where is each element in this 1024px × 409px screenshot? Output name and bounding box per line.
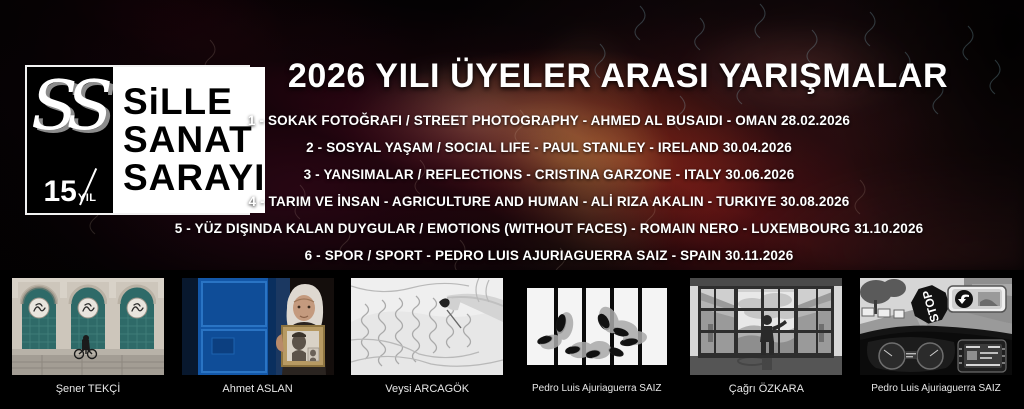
photo-thumbnails: STOP bbox=[0, 278, 1024, 375]
competition-item-5: 5 - YÜZ DIŞINDA KALAN DUYGULAR / EMOTION… bbox=[0, 215, 1024, 242]
competition-item-6: 6 - SPOR / SPORT - PEDRO LUIS AJURIAGUER… bbox=[0, 242, 1024, 269]
photo-caption-2: Ahmet ASLAN bbox=[182, 380, 334, 404]
photo-thumbnail-3[interactable] bbox=[351, 278, 503, 375]
poster-header: SS 15YIL SiLLE SANAT SARAYI 2026 YILI ÜY… bbox=[0, 0, 1024, 270]
competition-item-1: 1 - SOKAK FOTOĞRAFI / STREET PHOTOGRAPHY… bbox=[0, 107, 1024, 134]
competition-list: 1 - SOKAK FOTOĞRAFI / STREET PHOTOGRAPHY… bbox=[0, 107, 1024, 269]
child-glass-facade-bw-image bbox=[690, 278, 842, 375]
mosque-arches-calligraphy-cyclist-image bbox=[12, 278, 164, 375]
competition-item-3: 3 - YANSIMALAR / REFLECTIONS - CRISTINA … bbox=[0, 161, 1024, 188]
photo-caption-4: Pedro Luis Ajuriaguerra SAIZ bbox=[521, 380, 673, 404]
competition-item-4: 4 - TARIM VE İNSAN - AGRICULTURE AND HUM… bbox=[0, 188, 1024, 215]
photo-strip: STOP bbox=[0, 270, 1024, 409]
photo-thumbnail-1[interactable] bbox=[12, 278, 164, 375]
photo-captions: Şener TEKÇİ Ahmet ASLAN Veysi ARCAGÖK Pe… bbox=[0, 380, 1024, 404]
photo-thumbnail-4[interactable] bbox=[521, 278, 673, 375]
competition-item-2: 2 - SOSYAL YAŞAM / SOCIAL LIFE - PAUL ST… bbox=[0, 134, 1024, 161]
photo-caption-5: Çağrı ÖZKARA bbox=[690, 380, 842, 404]
car-dashboard-stop-sign-bw-image: STOP bbox=[860, 278, 1012, 375]
woman-blue-door-holding-portrait-image bbox=[182, 278, 334, 375]
window-panes-silhouettes-bw-image bbox=[521, 278, 673, 375]
page-title: 2026 YILI ÜYELER ARASI YARIŞMALAR bbox=[268, 57, 968, 96]
photo-thumbnail-2[interactable] bbox=[182, 278, 334, 375]
photo-caption-6: Pedro Luis Ajuriaguerra SAIZ bbox=[860, 380, 1012, 404]
photo-caption-3: Veysi ARCAGÖK bbox=[351, 380, 503, 404]
aerial-ski-tracks-snow-bw-image bbox=[351, 278, 503, 375]
poster-root: SS 15YIL SiLLE SANAT SARAYI 2026 YILI ÜY… bbox=[0, 0, 1024, 409]
photo-thumbnail-6[interactable]: STOP bbox=[860, 278, 1012, 375]
photo-caption-1: Şener TEKÇİ bbox=[12, 380, 164, 404]
photo-thumbnail-5[interactable] bbox=[690, 278, 842, 375]
